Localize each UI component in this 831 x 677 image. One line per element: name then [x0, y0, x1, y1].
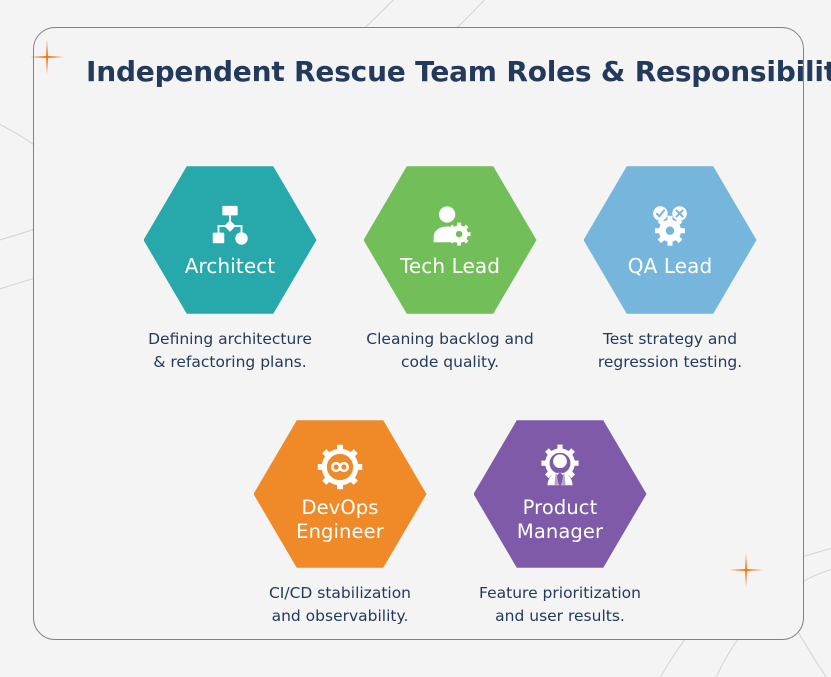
- gear-body: [655, 216, 685, 246]
- hexagon-tech-lead[interactable]: Tech Lead: [364, 164, 537, 316]
- hexagon-qa-lead[interactable]: QA Lead: [584, 164, 757, 316]
- role-caption: Feature prioritization and user results.: [462, 582, 658, 628]
- x-circle-badge: [672, 206, 687, 221]
- infographic-card: Independent Rescue Team Roles & Responsi…: [33, 27, 804, 640]
- role-label: Product Manager: [511, 496, 609, 544]
- role-card-tech-lead[interactable]: Tech Lead Cleaning backlog and code qual…: [352, 164, 548, 374]
- user-gear-icon: [427, 202, 473, 248]
- role-card-architect[interactable]: Architect Defining architecture & refact…: [132, 164, 328, 374]
- role-caption: Test strategy and regression testing.: [572, 328, 768, 374]
- businessman-gear-icon: [537, 444, 583, 490]
- infinity-symbol: [332, 463, 348, 471]
- role-card-qa-lead[interactable]: QA Lead Test strategy and regression tes…: [572, 164, 768, 374]
- role-card-devops-engineer[interactable]: DevOps Engineer CI/CD stabilization and …: [242, 418, 438, 628]
- role-card-product-manager[interactable]: Product Manager Feature prioritization a…: [462, 418, 658, 628]
- role-caption: Defining architecture & refactoring plan…: [132, 328, 328, 374]
- hexagon-architect[interactable]: Architect: [144, 164, 317, 316]
- person-head: [553, 454, 567, 468]
- role-caption: CI/CD stabilization and observability.: [242, 582, 438, 628]
- hexagon-product-manager[interactable]: Product Manager: [474, 418, 647, 570]
- role-caption: Cleaning backlog and code quality.: [352, 328, 548, 374]
- gear-infinity-icon: [317, 444, 363, 490]
- role-label: QA Lead: [622, 254, 719, 278]
- role-label: Tech Lead: [394, 254, 506, 278]
- sitemap-icon: [207, 202, 253, 248]
- check-circle-badge: [653, 206, 668, 221]
- hexagon-devops-engineer[interactable]: DevOps Engineer: [254, 418, 427, 570]
- page-title: Independent Rescue Team Roles & Responsi…: [86, 55, 831, 88]
- gear-check-x-icon: [647, 202, 693, 248]
- role-label: DevOps Engineer: [290, 496, 390, 544]
- role-label: Architect: [179, 254, 282, 278]
